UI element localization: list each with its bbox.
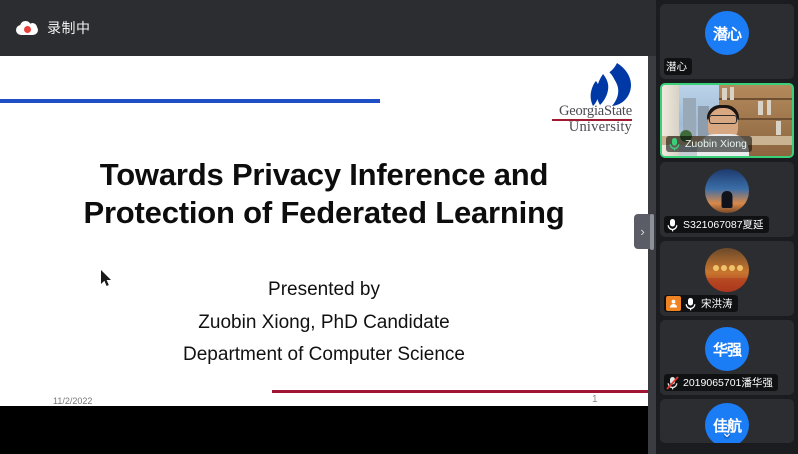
recording-bar: 录制中 — [0, 0, 656, 56]
avatar — [705, 248, 749, 292]
recording-label: 录制中 — [47, 18, 91, 38]
participant-name: 2019065701潘华强 — [683, 375, 773, 390]
participant-name: 宋洪涛 — [701, 296, 733, 311]
georgia-state-university-logo: GeorgiaState University — [538, 60, 636, 132]
microphone-icon — [668, 137, 681, 151]
panel-divider[interactable] — [648, 56, 656, 454]
slide-blue-rule — [0, 99, 380, 103]
participant-filmstrip[interactable]: 潜心 潜心 — [656, 0, 798, 454]
presented-by-line: Presented by — [0, 274, 648, 307]
zoom-screen-share-window: 录制中 GeorgiaState University Towards Priv… — [0, 0, 798, 454]
presenter-name-line: Zuobin Xiong, PhD Candidate — [0, 307, 648, 340]
participant-name-bar: 2019065701潘华强 — [664, 374, 778, 391]
host-badge-icon — [666, 296, 681, 311]
mouse-cursor-icon — [101, 270, 113, 288]
participant-tile[interactable]: 佳航 ⌄ — [660, 399, 794, 443]
participant-tile[interactable]: 华强 2019065701潘华强 — [660, 320, 794, 395]
participant-name-bar: 宋洪涛 — [664, 295, 738, 312]
department-line: Department of Computer Science — [0, 339, 648, 372]
shared-slide-area[interactable]: GeorgiaState University Towards Privacy … — [0, 56, 656, 406]
recording-indicator[interactable]: 录制中 — [16, 18, 91, 38]
participant-name: Zuobin Xiong — [685, 138, 747, 150]
slide-date: 11/2/2022 — [53, 396, 92, 406]
logo-line-1: GeorgiaState — [559, 103, 632, 120]
participant-name: 潜心 — [666, 59, 687, 74]
collapse-panel-button[interactable]: › — [634, 214, 651, 249]
slide-red-rule — [272, 390, 648, 393]
participant-tile[interactable]: Zuobin Xiong — [660, 83, 794, 158]
powerpoint-slide: GeorgiaState University Towards Privacy … — [0, 56, 648, 404]
microphone-icon — [666, 218, 679, 232]
logo-line-2: University — [569, 119, 632, 136]
cloud-recording-icon — [16, 21, 38, 35]
participant-name-bar: 潜心 — [664, 58, 692, 75]
microphone-muted-icon — [666, 376, 679, 390]
microphone-icon — [684, 297, 697, 311]
participant-tile[interactable]: 潜心 潜心 — [660, 4, 794, 79]
avatar: 华强 — [705, 327, 749, 371]
participant-name-bar: Zuobin Xiong — [666, 136, 752, 152]
avatar — [705, 169, 749, 213]
avatar: 潜心 — [705, 11, 749, 55]
participant-name: S321067087夏延 — [683, 217, 764, 232]
slide-number: 1 — [592, 394, 598, 405]
gsu-flame-icon — [587, 62, 633, 108]
slide-title: Towards Privacy Inference and Protection… — [0, 156, 648, 232]
slide-subtitle: Presented by Zuobin Xiong, PhD Candidate… — [0, 274, 648, 372]
avatar-photo — [705, 248, 749, 292]
participant-tile[interactable]: 宋洪涛 — [660, 241, 794, 316]
participant-name-bar: S321067087夏延 — [664, 216, 769, 233]
window-bottom-strip — [0, 406, 656, 454]
participant-tile[interactable]: S321067087夏延 — [660, 162, 794, 237]
divider-drag-handle[interactable] — [650, 214, 654, 250]
chevron-down-icon[interactable]: ⌄ — [721, 425, 733, 439]
